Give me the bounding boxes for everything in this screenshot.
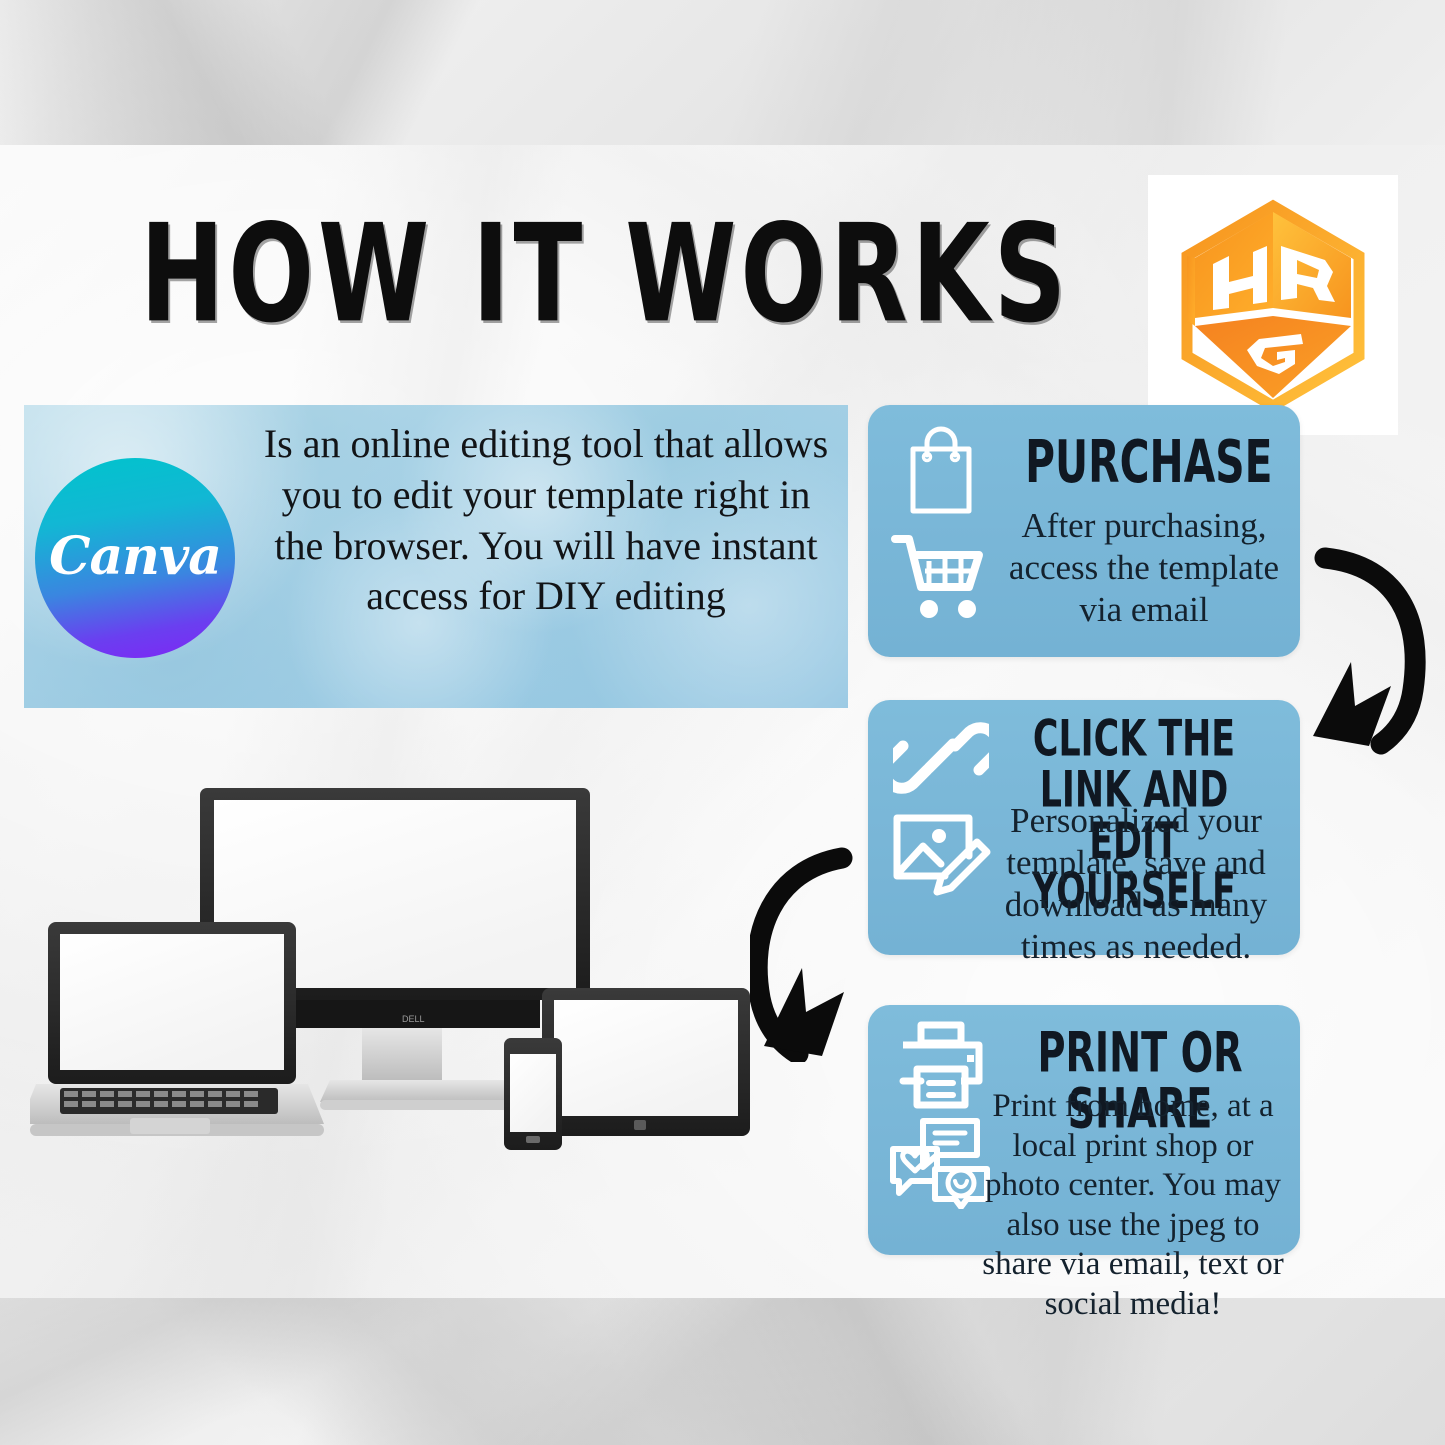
devices-illustration: DELL xyxy=(30,782,770,1182)
step-card-purchase: PURCHASE After purchasing, access the te… xyxy=(868,405,1300,657)
purchase-heading: PURCHASE xyxy=(1025,433,1265,493)
hrg-cube-icon xyxy=(1173,198,1373,413)
purchase-body: After purchasing, access the template vi… xyxy=(996,505,1292,631)
curved-arrow-down-right xyxy=(750,840,885,1062)
purchase-icons xyxy=(882,417,1000,625)
print-body: Print from home, at a local print shop o… xyxy=(972,1087,1294,1325)
shopping-bag-icon xyxy=(895,417,987,525)
image-edit-pencil-icon xyxy=(889,808,993,900)
edit-body: Personalized your template, save and dow… xyxy=(980,800,1292,968)
device-mockup-group: DELL xyxy=(30,782,770,1182)
curved-arrow-down-left xyxy=(1295,530,1445,760)
canva-logo-icon: Canva xyxy=(35,458,235,658)
chain-link-icon xyxy=(893,712,989,804)
shopping-cart-icon xyxy=(889,529,993,625)
step-card-print: PRINT OR SHARE Print from home, at a loc… xyxy=(868,1005,1300,1255)
canva-description: Is an online editing tool that allows yo… xyxy=(256,419,836,622)
step-card-edit: CLICK THE LINK AND EDIT YOURSELF Persona… xyxy=(868,700,1300,955)
how-it-works-infographic: HOW IT WORKS xyxy=(0,0,1445,1445)
canva-info-panel: Canva Is an online editing tool that all… xyxy=(24,405,848,708)
canva-wordmark: Canva xyxy=(49,526,221,587)
brand-logo xyxy=(1148,175,1398,435)
page-title: HOW IT WORKS xyxy=(140,206,1070,341)
svg-text:DELL: DELL xyxy=(402,1014,425,1024)
